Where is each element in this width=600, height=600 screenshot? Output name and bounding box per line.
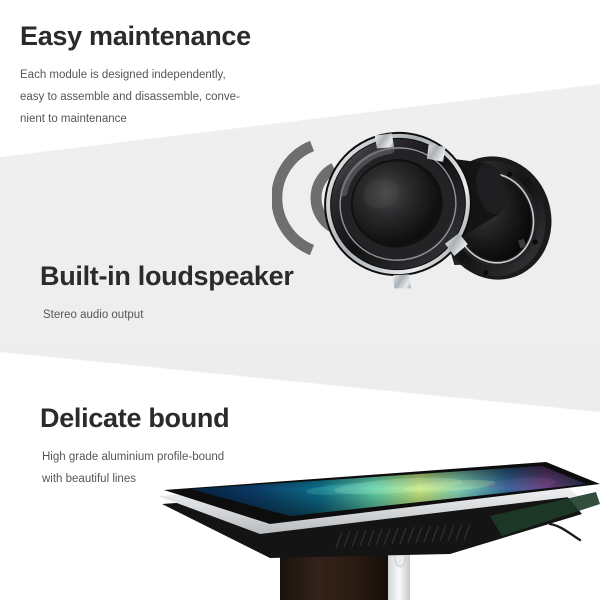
- body-line: Each module is designed independently,: [20, 64, 251, 86]
- loudspeaker-image: [320, 128, 600, 318]
- product-feature-page: Easy maintenance Each module is designed…: [0, 0, 600, 600]
- body-line: easy to assemble and disassemble, conve-: [20, 86, 251, 108]
- section-body-easy-maintenance: Each module is designed independently, e…: [20, 64, 251, 130]
- kiosk-stylus-cable: [550, 524, 580, 540]
- section-title-easy-maintenance: Easy maintenance: [20, 22, 251, 52]
- body-line: nient to maintenance: [20, 108, 251, 130]
- touchscreen-kiosk-image: [150, 462, 600, 600]
- section-built-in-loudspeaker: Built-in loudspeaker Stereo audio output: [40, 262, 294, 326]
- section-easy-maintenance: Easy maintenance Each module is designed…: [20, 22, 251, 130]
- section-title-delicate-bound: Delicate bound: [40, 404, 229, 434]
- body-line: Stereo audio output: [43, 304, 294, 326]
- section-body-built-in-loudspeaker: Stereo audio output: [43, 304, 294, 326]
- section-title-built-in-loudspeaker: Built-in loudspeaker: [40, 262, 294, 292]
